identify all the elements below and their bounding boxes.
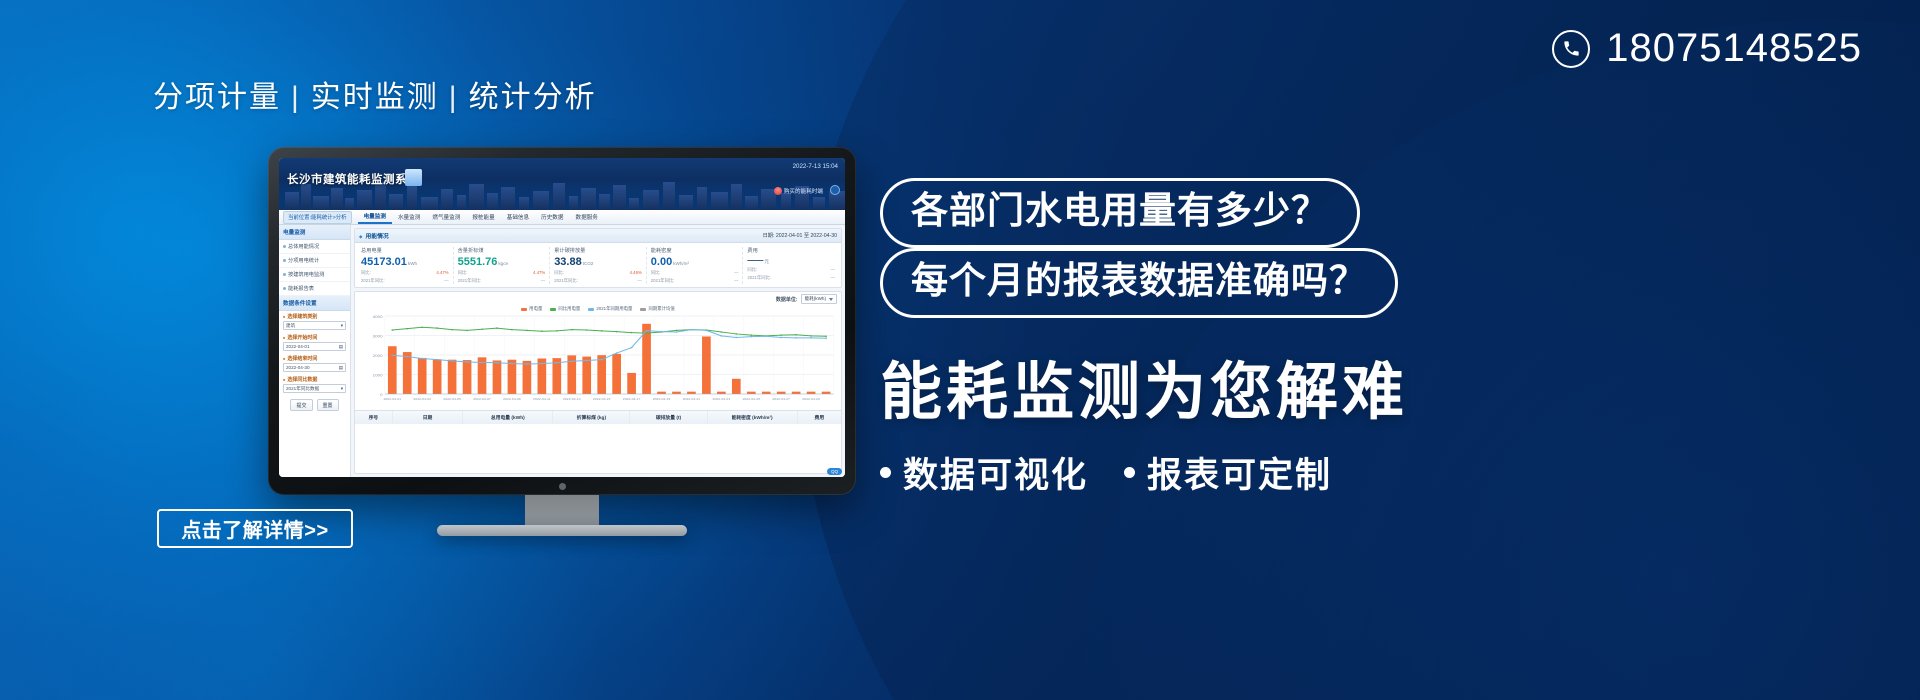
sidebar-section-electricity: 电量监测 <box>279 225 350 240</box>
question-pill-1: 各部门水电用量有多少？ <box>880 178 1360 248</box>
sidebar-item-report[interactable]: 能耗报告表 <box>279 282 350 296</box>
kpi-label: 能耗密度 <box>651 247 739 254</box>
usage-panel: 用能情况 日期: 2022-04-01 至 2022-04-30 总用电量 45… <box>354 228 842 288</box>
kpi-energy-density: 能耗密度 0.00kWh/m² 同比:— 2021年同比:— <box>647 247 744 284</box>
building-logo-icon <box>405 169 422 186</box>
bullet-dot-icon <box>880 467 891 478</box>
kpi-prev-label: 2021年同比: <box>361 278 385 284</box>
submit-button[interactable]: 提交 <box>290 399 312 411</box>
bullet-item-1: 数据可视化 <box>880 447 1088 498</box>
calendar-icon: ▤ <box>339 344 343 350</box>
kpi-row: 总用电量 45173.01kWh 同比:4.47% 2021年同比:— 含量折标… <box>355 243 841 287</box>
energy-chart: 010002000300040002022-04-012022-04-03202… <box>358 312 838 408</box>
dashboard-main: 用能情况 日期: 2022-04-01 至 2022-04-30 总用电量 45… <box>351 225 845 477</box>
field-compare-year-select[interactable]: 2021年同比数据 ▾ <box>283 384 346 393</box>
th-carbon[interactable]: 碳排放量 (t) <box>630 411 707 424</box>
header-datetime: 2022-7-13 15:04 <box>793 163 838 170</box>
chart-canvas: 010002000300040002022-04-012022-04-03202… <box>358 312 838 408</box>
kpi-prev-value: — <box>541 278 545 284</box>
kpi-compare-label: 同比: <box>554 270 564 276</box>
svg-text:2022-04-15: 2022-04-15 <box>593 397 611 401</box>
kpi-carbon-emission: 累计碳排放量 33.88tCO2 同比:4.46% 2021年同比:— <box>550 247 647 284</box>
tagline-item-1: 分项计量 <box>153 81 281 114</box>
breadcrumb: 当前位置:能耗统计>分析 <box>283 211 352 224</box>
cta-button[interactable]: 点击了解详情>> <box>157 509 353 548</box>
bullet-item-2: 报表可定制 <box>1124 447 1332 498</box>
tagline: 分项计量|实时监测|统计分析 <box>153 72 597 116</box>
field-start-date-label: 选择开始时间 <box>283 334 346 341</box>
th-coal[interactable]: 折算标煤 (kg) <box>553 411 630 424</box>
field-building-type: 选择建筑类别 建筑 ▾ <box>279 311 350 332</box>
data-unit-label: 数据单位: <box>776 296 798 303</box>
field-end-date: 选择结束时间 2022-04-30 ▤ <box>279 353 350 374</box>
kpi-label: 费用 <box>747 247 835 254</box>
kpi-unit: tCO2 <box>583 261 594 266</box>
dashboard-body: 电量监测 总体用能情况 分项用电统计 按建筑用电监测 能耗报告表 数据条件设置 … <box>279 225 845 477</box>
field-start-date: 选择开始时间 2022-04-01 ▤ <box>279 332 350 353</box>
svg-text:2022-04-07: 2022-04-07 <box>473 397 491 401</box>
monitor-base <box>437 525 687 536</box>
th-total[interactable]: 总用电量 (kWh) <box>463 411 553 424</box>
right-content-column: 各部门水电用量有多少？ 每个月的报表数据准确吗？ 能耗监测为您解难 数据可视化 … <box>880 178 1860 498</box>
kpi-prev-label: 2021年同比: <box>747 275 771 281</box>
tab-basic-info[interactable]: 基础信息 <box>501 211 535 223</box>
calendar-icon: ▤ <box>339 365 343 371</box>
tab-gas[interactable]: 燃气量监测 <box>426 211 466 223</box>
kpi-compare-label: 同比: <box>361 270 371 276</box>
promo-banner: 分项计量|实时监测|统计分析 18075148525 <box>0 0 1920 700</box>
kpi-label: 含量折标煤 <box>458 247 546 254</box>
phone-icon <box>1552 30 1590 68</box>
svg-text:2022-04-19: 2022-04-19 <box>653 397 671 401</box>
tagline-separator-1: | <box>291 81 301 114</box>
kpi-value: 5551.76 <box>458 256 498 268</box>
svg-text:2022-04-11: 2022-04-11 <box>533 397 551 401</box>
tab-water[interactable]: 水量监测 <box>392 211 426 223</box>
header-user-label: 购买的能耗时端 <box>784 187 823 195</box>
kpi-cost: 费用 ——元 同比:— 2021年同比:— <box>743 247 839 284</box>
tab-history[interactable]: 历史数据 <box>535 211 569 223</box>
svg-text:2022-04-13: 2022-04-13 <box>563 397 581 401</box>
data-unit-row: 数据单位: 能耗(kWh) <box>355 292 841 304</box>
reset-button[interactable]: 重置 <box>317 399 339 411</box>
svg-text:2022-04-25: 2022-04-25 <box>742 397 760 401</box>
qq-badge[interactable]: QQ <box>827 468 842 475</box>
kpi-coal-equivalent: 含量折标煤 5551.76kgce 同比:4.47% 2021年同比:— <box>454 247 551 284</box>
system-title: 长沙市建筑能耗监测系统 <box>287 171 419 187</box>
sidebar-actions: 提交 重置 <box>279 395 350 415</box>
kpi-compare-value: 4.47% <box>533 270 545 276</box>
data-table-header: 序号 日期 总用电量 (kWh) 折算标煤 (kg) 碳排放量 (t) 能耗密度… <box>355 410 841 424</box>
field-end-date-value: 2022-04-30 <box>286 365 310 370</box>
kpi-prev-label: 2021年同比: <box>651 278 675 284</box>
kpi-compare-label: 同比: <box>747 267 757 273</box>
kpi-value: 0.00 <box>651 256 672 268</box>
kpi-prev-value: — <box>734 278 738 284</box>
gear-icon[interactable] <box>830 185 840 195</box>
monitor-mockup: 长沙市建筑能耗监测系统 2022-7-13 15:04 购买的能耗时端 当前位置… <box>268 147 856 536</box>
field-start-date-value: 2022-04-01 <box>286 344 310 349</box>
th-density[interactable]: 能耗密度 (kWh/m²) <box>708 411 798 424</box>
bullet-label: 报表可定制 <box>1147 447 1332 498</box>
field-building-type-select[interactable]: 建筑 ▾ <box>283 321 346 330</box>
phone-number: 18075148525 <box>1606 26 1862 71</box>
sidebar-item-by-building[interactable]: 按建筑用电监测 <box>279 268 350 282</box>
svg-text:2022-04-03: 2022-04-03 <box>413 397 431 401</box>
tab-data-service[interactable]: 数据服务 <box>570 211 604 223</box>
chart-panel: 数据单位: 能耗(kWh) 用电量 同比用电量 2021年同期用电量 同期累计均… <box>354 291 842 474</box>
kpi-compare-label: 同比: <box>458 270 468 276</box>
bullet-dot-icon <box>1124 467 1135 478</box>
chart-legend: 用电量 同比用电量 2021年同期用电量 同期累计均值 <box>355 304 841 312</box>
kpi-total-electricity: 总用电量 45173.01kWh 同比:4.47% 2021年同比:— <box>357 247 454 284</box>
svg-text:2022-04-27: 2022-04-27 <box>772 397 790 401</box>
data-unit-select[interactable]: 能耗(kWh) <box>801 294 837 304</box>
main-headline: 能耗监测为您解难 <box>880 360 1860 425</box>
field-building-type-label: 选择建筑类别 <box>283 313 346 320</box>
field-end-date-label: 选择结束时间 <box>283 355 346 362</box>
field-compare-year-label: 选择同比数据 <box>283 376 346 383</box>
svg-text:2022-04-05: 2022-04-05 <box>443 397 461 401</box>
sidebar-item-overall[interactable]: 总体用能情况 <box>279 240 350 254</box>
kpi-value: —— <box>747 256 763 265</box>
user-avatar-icon <box>774 187 782 195</box>
svg-text:1000: 1000 <box>373 373 384 378</box>
kpi-compare-value: 4.46% <box>630 270 642 276</box>
chevron-down-icon: ▾ <box>341 386 343 392</box>
field-end-date-input[interactable]: 2022-04-30 ▤ <box>283 363 346 372</box>
field-compare-year-value: 2021年同比数据 <box>286 386 319 392</box>
kpi-label: 总用电量 <box>361 247 449 254</box>
svg-text:2022-04-17: 2022-04-17 <box>623 397 641 401</box>
kpi-prev-value: — <box>637 278 641 284</box>
tab-electricity[interactable]: 电量监测 <box>358 210 392 224</box>
bullet-label: 数据可视化 <box>903 447 1088 498</box>
kpi-unit: kgce <box>498 261 508 266</box>
kpi-prev-value: — <box>444 278 448 284</box>
kpi-unit: kWh/m² <box>673 261 689 266</box>
tagline-item-2: 实时监测 <box>311 81 439 114</box>
kpi-compare-label: 同比: <box>651 270 661 276</box>
kpi-label: 累计碳排放量 <box>554 247 642 254</box>
kpi-prev-label: 2021年同比: <box>554 278 578 284</box>
th-index[interactable]: 序号 <box>355 411 393 424</box>
field-compare-year: 选择同比数据 2021年同比数据 ▾ <box>279 374 350 395</box>
dashboard-screen: 长沙市建筑能耗监测系统 2022-7-13 15:04 购买的能耗时端 当前位置… <box>279 158 845 477</box>
sidebar-section-conditions: 数据条件设置 <box>279 296 350 311</box>
tab-heat[interactable]: 报桩能量 <box>466 211 500 223</box>
tagline-item-3: 统计分析 <box>469 81 597 114</box>
sidebar-item-subitem-stats[interactable]: 分项用电统计 <box>279 254 350 268</box>
kpi-value: 45173.01 <box>361 256 407 268</box>
monitor-neck <box>525 495 599 525</box>
dashboard-header: 长沙市建筑能耗监测系统 2022-7-13 15:04 购买的能耗时端 <box>279 158 845 210</box>
th-cost[interactable]: 费用 <box>798 411 841 424</box>
svg-text:2022-04-23: 2022-04-23 <box>713 397 731 401</box>
svg-text:2022-04-21: 2022-04-21 <box>683 397 701 401</box>
kpi-unit: 元 <box>764 259 769 264</box>
kpi-value: 33.88 <box>554 256 582 268</box>
chevron-down-icon: ▾ <box>341 323 343 329</box>
kpi-compare-value: — <box>831 267 835 273</box>
field-start-date-input[interactable]: 2022-04-01 ▤ <box>283 342 346 351</box>
dashboard-nav: 当前位置:能耗统计>分析 电量监测 水量监测 燃气量监测 报桩能量 基础信息 历… <box>279 210 845 225</box>
field-building-type-value: 建筑 <box>286 323 295 329</box>
usage-panel-header: 用能情况 日期: 2022-04-01 至 2022-04-30 <box>355 229 841 243</box>
svg-text:4000: 4000 <box>373 314 384 319</box>
monitor-bezel: 长沙市建筑能耗监测系统 2022-7-13 15:04 购买的能耗时端 当前位置… <box>268 147 856 495</box>
contact-phone-block[interactable]: 18075148525 <box>1552 26 1862 71</box>
usage-panel-title: 用能情况 <box>359 231 389 240</box>
svg-text:2022-04-01: 2022-04-01 <box>383 397 401 401</box>
kpi-compare-value: — <box>734 270 738 276</box>
th-date[interactable]: 日期 <box>393 411 464 424</box>
header-user[interactable]: 购买的能耗时端 <box>774 187 823 195</box>
svg-text:3000: 3000 <box>373 334 384 339</box>
feature-bullets: 数据可视化 报表可定制 <box>880 447 1860 498</box>
dashboard-sidebar: 电量监测 总体用能情况 分项用电统计 按建筑用电监测 能耗报告表 数据条件设置 … <box>279 225 351 477</box>
svg-text:2022-04-29: 2022-04-29 <box>802 397 820 401</box>
kpi-compare-value: 4.47% <box>436 270 448 276</box>
kpi-prev-value: — <box>831 275 835 281</box>
svg-text:2022-04-09: 2022-04-09 <box>503 397 521 401</box>
question-pill-2: 每个月的报表数据准确吗？ <box>880 248 1398 318</box>
usage-panel-date-range: 日期: 2022-04-01 至 2022-04-30 <box>763 232 837 239</box>
svg-text:2000: 2000 <box>373 353 384 358</box>
kpi-prev-label: 2021年同比: <box>458 278 482 284</box>
kpi-unit: kWh <box>408 261 417 266</box>
tagline-separator-2: | <box>449 81 459 114</box>
